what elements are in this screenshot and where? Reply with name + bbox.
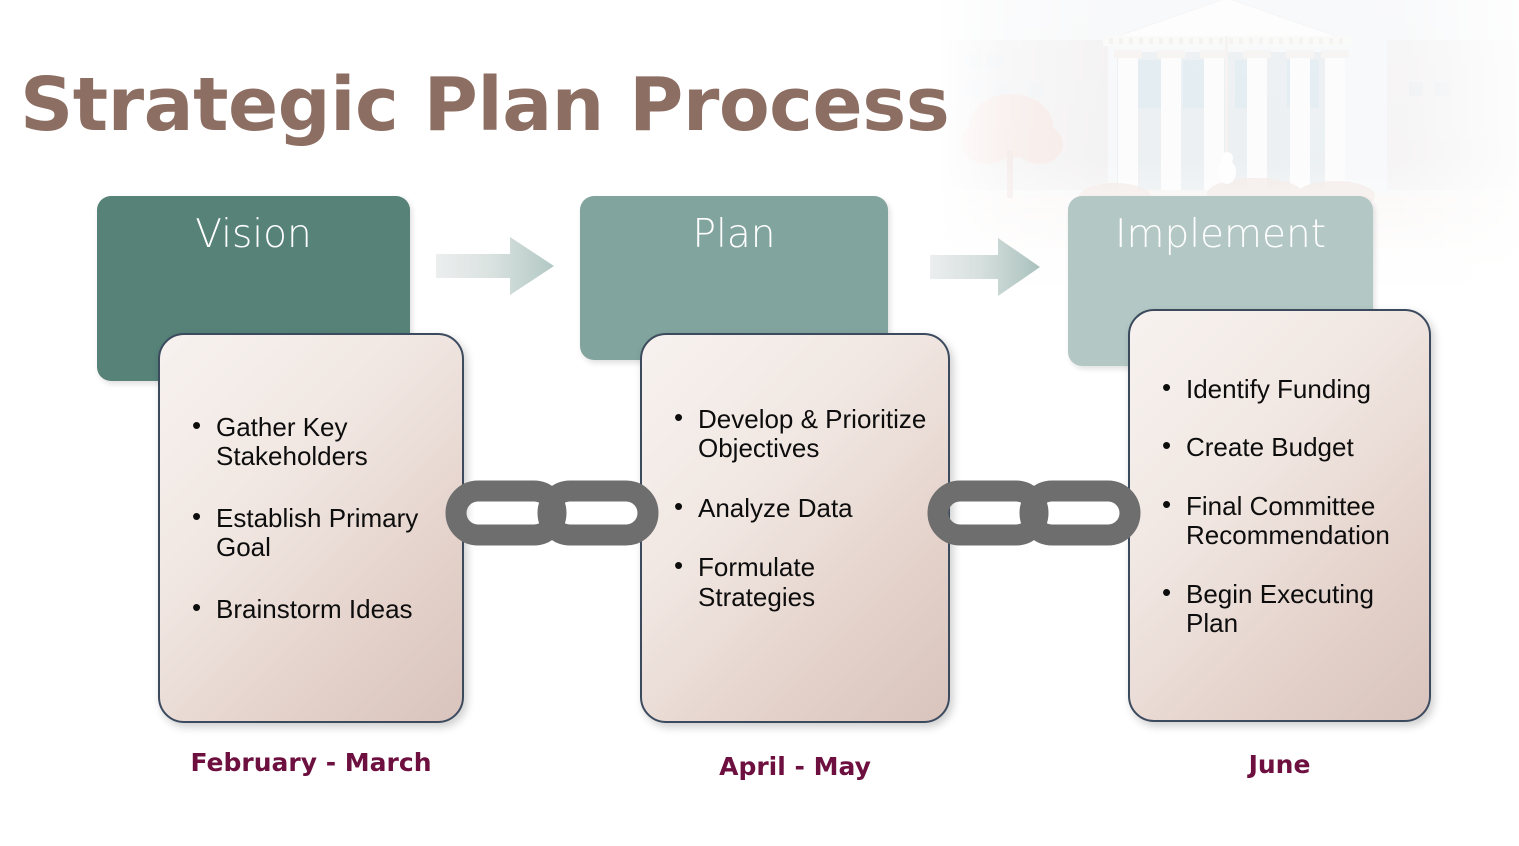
phase-date-vision: February - March: [158, 748, 464, 777]
phase-header-label: Plan: [693, 212, 776, 257]
list-item: Create Budget: [1148, 433, 1409, 462]
chain-link-icon: [444, 474, 660, 557]
chain-link-icon: [926, 474, 1142, 557]
list-item: Develop & Prioritize Objectives: [660, 405, 928, 464]
list-item: Analyze Data: [660, 494, 928, 523]
right-arrow-icon: [930, 238, 1042, 301]
phase-header-label: Vision: [195, 212, 311, 257]
list-item: Final Committee Recommendation: [1148, 492, 1409, 551]
list-item: Gather Key Stakeholders: [178, 413, 442, 472]
phase-body-implement: Identify Funding Create Budget Final Com…: [1128, 309, 1431, 722]
list-item: Establish Primary Goal: [178, 504, 442, 563]
bullet-list: Gather Key Stakeholders Establish Primar…: [178, 363, 442, 624]
phase-body-vision: Gather Key Stakeholders Establish Primar…: [158, 333, 464, 723]
list-item: Identify Funding: [1148, 375, 1409, 404]
right-arrow-icon: [436, 237, 556, 300]
list-item: Begin Executing Plan: [1148, 580, 1409, 639]
bullet-list: Identify Funding Create Budget Final Com…: [1148, 339, 1409, 638]
page-title: Strategic Plan Process: [20, 62, 949, 148]
phase-date-implement: June: [1128, 750, 1431, 779]
phase-body-plan: Develop & Prioritize Objectives Analyze …: [640, 333, 950, 723]
phase-date-plan: April - May: [640, 752, 950, 781]
list-item: Formulate Strategies: [660, 553, 928, 612]
bullet-list: Develop & Prioritize Objectives Analyze …: [660, 363, 928, 612]
list-item: Brainstorm Ideas: [178, 595, 442, 624]
slide-canvas: Strategic Plan Process: [0, 0, 1519, 846]
phase-header-label: Implement: [1115, 212, 1326, 257]
